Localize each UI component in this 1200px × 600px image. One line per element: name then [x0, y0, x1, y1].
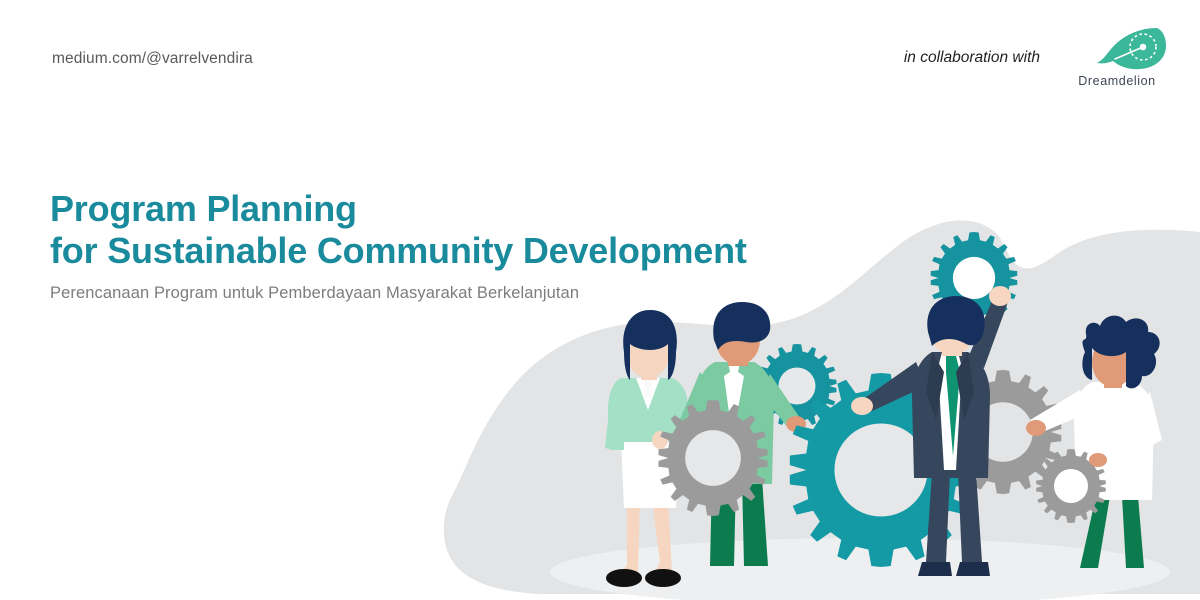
figure-person-green-shirt [675, 302, 806, 566]
page-title-line2: for Sustainable Community Development [50, 230, 750, 272]
brand-logo: Dreamdelion [1062, 22, 1172, 94]
gear-small-teal [758, 344, 837, 428]
figure-man-navy-suit [851, 286, 1011, 576]
page-title-line1: Program Planning [50, 188, 357, 229]
gear-top-teal [931, 232, 1017, 324]
gear-gray-small [1036, 449, 1106, 523]
gear-gray-center [945, 370, 1062, 494]
headline-block: Program Planning for Sustainable Communi… [50, 188, 750, 303]
gear-large-teal [790, 373, 972, 567]
cover-canvas: medium.com/@varrelvendira in collaborati… [0, 0, 1200, 600]
page-subtitle: Perencanaan Program untuk Pemberdayaan M… [50, 284, 750, 303]
page-title: Program Planning for Sustainable Communi… [50, 188, 750, 272]
figure-woman-white-top [1026, 316, 1162, 568]
brand-name-text: Dreamdelion [1062, 74, 1172, 88]
ground-shadow [550, 538, 1170, 600]
collaboration-label: in collaboration with [904, 49, 1040, 67]
dandelion-leaf-logo-icon [1062, 22, 1172, 74]
hand-on-small-gear [1089, 453, 1107, 467]
gear-gray-left [658, 400, 767, 516]
site-url-text: medium.com/@varrelvendira [52, 50, 253, 68]
figure-woman-mint-blazer [605, 310, 690, 587]
